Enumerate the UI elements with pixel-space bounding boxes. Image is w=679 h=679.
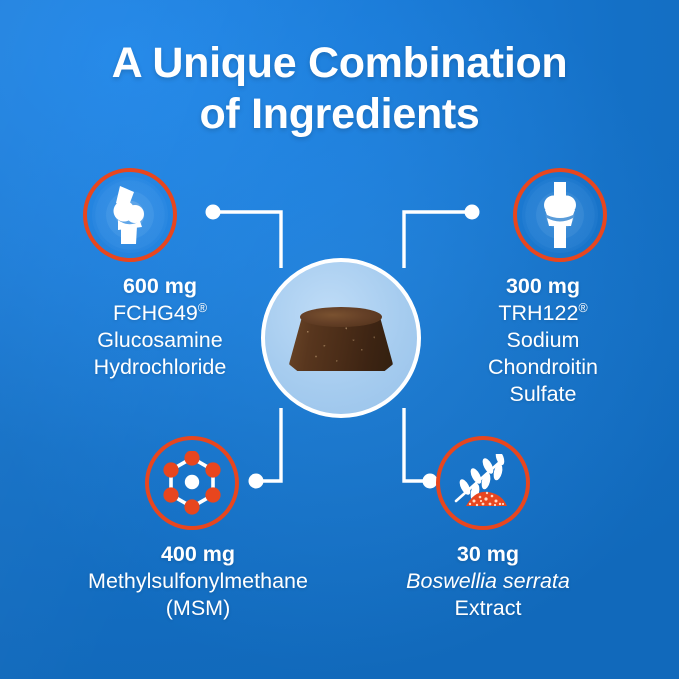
line-glucosamine-1: Glucosamine	[30, 327, 290, 354]
registered-mark: ®	[198, 301, 207, 315]
ingredient-boswellia: 30 mg Boswellia serrata Extract	[388, 436, 588, 622]
ingredients-infographic: A Unique Combination of Ingredients	[0, 0, 679, 679]
ingredient-chondroitin: 300 mg TRH122® Sodium Chondroitin Sulfat…	[413, 168, 673, 408]
herb-powder-icon-ring	[436, 436, 530, 530]
knee-joint-icon	[104, 184, 156, 246]
amount-chondroitin: 300 mg	[413, 273, 673, 300]
line-msm-1: (MSM)	[58, 595, 338, 622]
center-product-circle	[261, 258, 421, 418]
line-boswellia-1: Extract	[388, 595, 588, 622]
line-glucosamine-2: Hydrochloride	[30, 354, 290, 381]
molecule-icon-ring	[145, 436, 239, 530]
amount-glucosamine: 600 mg	[30, 273, 290, 300]
ingredient-glucosamine: 600 mg FCHG49® Glucosamine Hydrochloride	[30, 168, 290, 381]
line-msm-0: Methylsulfonylmethane	[58, 568, 338, 595]
label-boswellia: 30 mg Boswellia serrata Extract	[388, 541, 588, 622]
line-boswellia-0: Boswellia serrata	[388, 568, 588, 595]
tablet-top-face	[300, 307, 382, 327]
label-glucosamine: 600 mg FCHG49® Glucosamine Hydrochloride	[30, 273, 290, 381]
line-chondroitin-2: Chondroitin	[413, 354, 673, 381]
line-chondroitin-3: Sulfate	[413, 381, 673, 408]
label-chondroitin: 300 mg TRH122® Sodium Chondroitin Sulfat…	[413, 273, 673, 408]
line-chondroitin-1: Sodium	[413, 327, 673, 354]
line-chondroitin-0: TRH122®	[413, 300, 673, 327]
bone-joint-icon-ring	[513, 168, 607, 262]
knee-joint-icon-ring	[83, 168, 177, 262]
bone-joint-icon	[540, 182, 580, 248]
herb-powder-icon	[450, 454, 516, 512]
amount-boswellia: 30 mg	[388, 541, 588, 568]
line-glucosamine-0: FCHG49®	[30, 300, 290, 327]
ingredient-msm: 400 mg Methylsulfonylmethane (MSM)	[58, 436, 338, 622]
amount-msm: 400 mg	[58, 541, 338, 568]
registered-mark: ®	[578, 301, 587, 315]
label-msm: 400 mg Methylsulfonylmethane (MSM)	[58, 541, 338, 622]
tablet-icon	[289, 307, 393, 371]
molecule-icon	[160, 451, 224, 515]
